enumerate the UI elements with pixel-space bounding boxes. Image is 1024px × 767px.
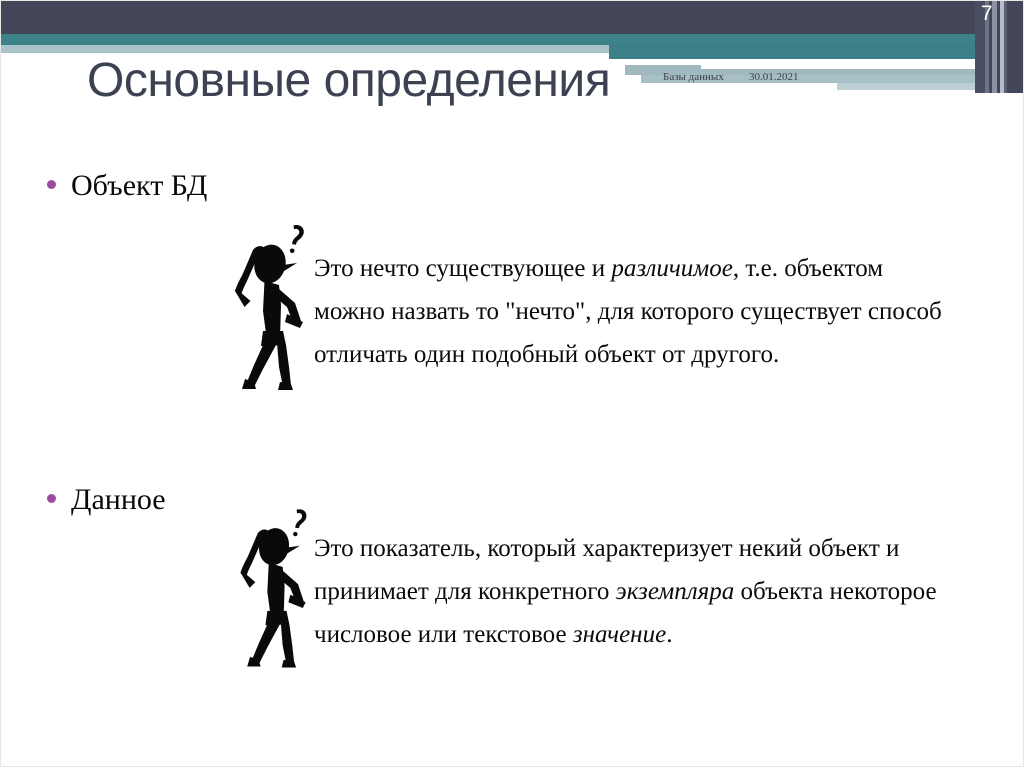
header-date-label: 30.01.2021	[749, 71, 799, 83]
decor-bar-teal	[609, 45, 1024, 59]
header-band-dark	[1, 1, 1024, 34]
header-band-teal	[1, 34, 1024, 45]
thinking-person-icon	[229, 493, 321, 679]
bullet-label-datum: Данное	[71, 483, 166, 517]
bullet-dot-icon	[47, 180, 56, 189]
bullet-item-datum: Данное	[47, 483, 166, 517]
page-number: 7	[981, 2, 993, 26]
decor-stripe	[1007, 1, 1023, 93]
bullet-item-object: Объект БД	[47, 169, 207, 203]
definition-paragraph-datum: Это показатель, который характеризует не…	[314, 527, 954, 656]
definition-paragraph-object: Это нечто существующее и различимое, т.е…	[314, 247, 954, 376]
bullet-dot-icon	[47, 494, 56, 503]
header-subject-label: Базы данных	[663, 71, 724, 83]
presentation-slide: 7 Основные определения Базы данных 30.01…	[0, 0, 1024, 767]
page-title: Основные определения	[87, 53, 610, 108]
bullet-label-object: Объект БД	[71, 169, 207, 203]
thinking-person-icon	[223, 219, 319, 391]
